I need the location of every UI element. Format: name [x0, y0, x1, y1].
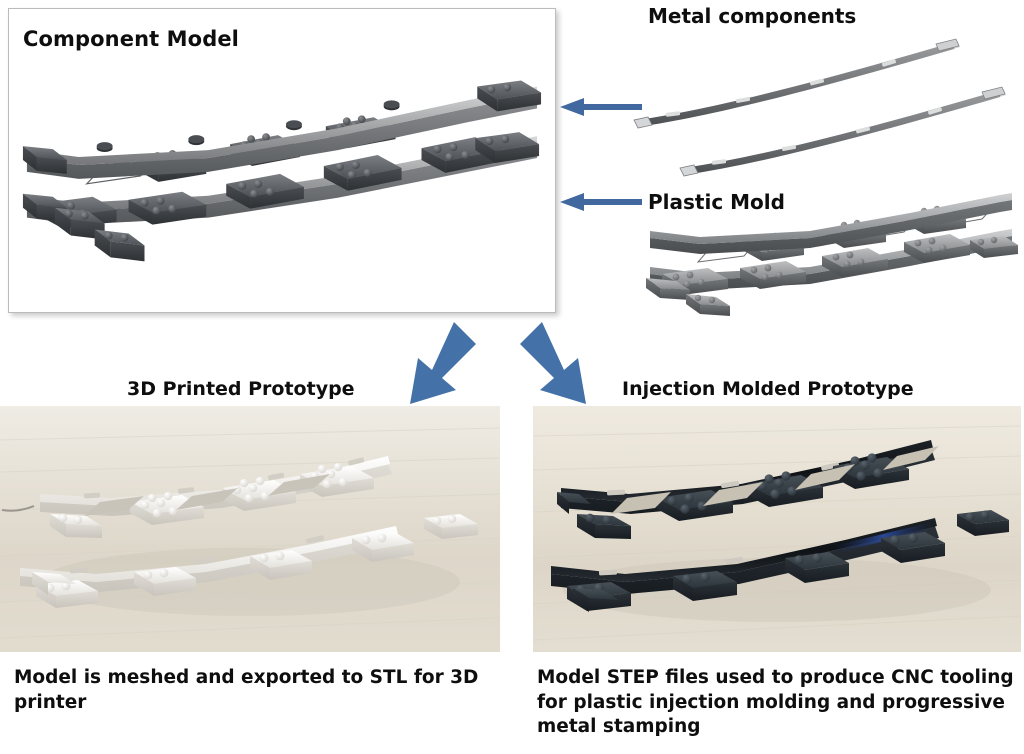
plastic-mold-cad-render — [640, 182, 1024, 317]
metal-components-heading: Metal components — [648, 4, 856, 28]
printed-prototype-caption: Model is meshed and exported to STL for … — [14, 666, 484, 715]
molded-prototype-caption: Model STEP files used to produce CNC too… — [537, 666, 1024, 740]
printed-prototype-heading: 3D Printed Prototype — [127, 378, 355, 400]
arrow-left-icon-mold — [558, 191, 642, 213]
component-model-panel: Component Model — [8, 8, 556, 313]
molded-prototype-photo — [533, 406, 1021, 652]
molded-prototype-heading: Injection Molded Prototype — [622, 378, 914, 400]
arrow-down-left-icon — [392, 320, 478, 406]
component-model-cad-render — [9, 9, 555, 312]
arrow-down-right-icon — [518, 320, 604, 406]
metal-components-cad-render — [630, 28, 1024, 188]
printed-prototype-photo — [0, 406, 500, 652]
